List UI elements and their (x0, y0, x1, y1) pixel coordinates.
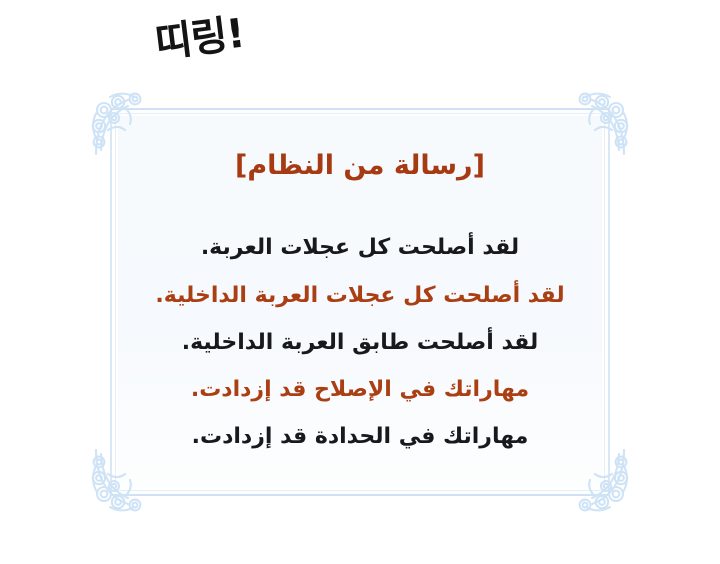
sound-effect-text: 띠링! (153, 13, 246, 64)
list-item: لقد أصلحت طابق العربة الداخلية. (144, 331, 576, 355)
panel-content: [رسالة من النظام] لقد أصلحت كل عجلات الع… (118, 116, 602, 488)
list-item: لقد أصلحت كل عجلات العربة. (144, 236, 576, 260)
message-line-list: لقد أصلحت كل عجلات العربة. لقد أصلحت كل … (144, 236, 576, 449)
list-item: لقد أصلحت كل عجلات العربة الداخلية. (144, 284, 576, 308)
page-title: [رسالة من النظام] (144, 150, 576, 182)
list-item: مهاراتك في الحدادة قد إزدادت. (144, 425, 576, 449)
system-message-panel: [رسالة من النظام] لقد أصلحت كل عجلات الع… (88, 88, 632, 516)
list-item: مهاراتك في الإصلاح قد إزدادت. (144, 378, 576, 402)
